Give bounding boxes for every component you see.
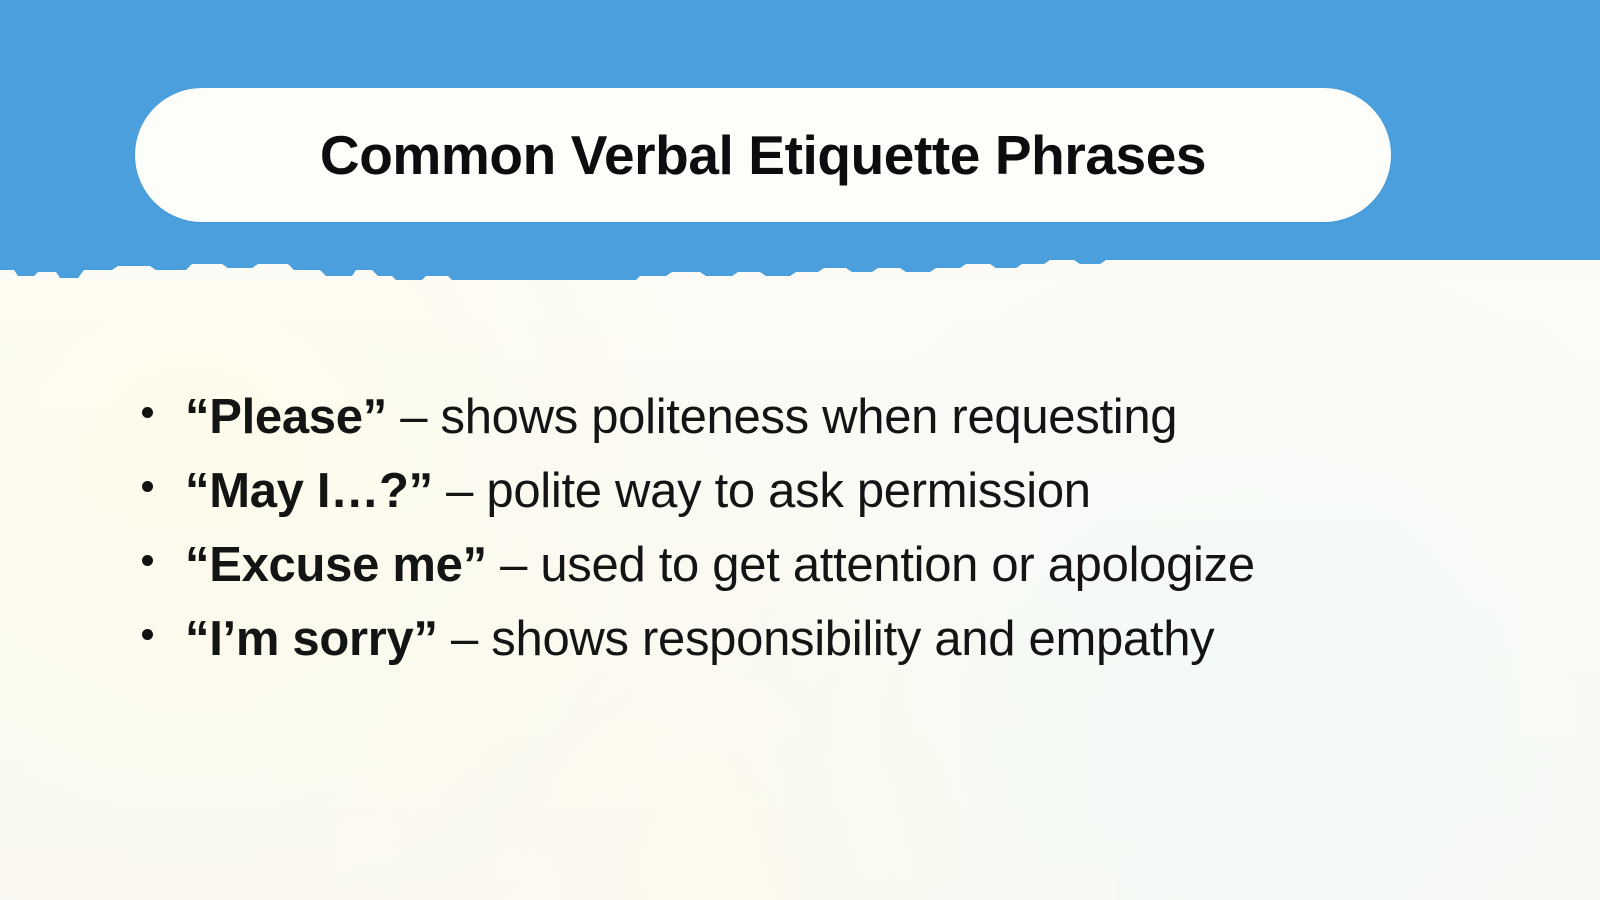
title-pill: Common Verbal Etiquette Phrases <box>135 88 1391 222</box>
open-quote: “ <box>185 538 209 592</box>
bullet-dot-icon <box>142 407 153 418</box>
list-item: “Please” – shows politeness when request… <box>128 380 1458 454</box>
phrase-description: polite way to ask permission <box>486 464 1090 518</box>
phrase-label: Please <box>209 390 363 444</box>
list-item-text: “May I…?” – polite way to ask permission <box>185 454 1458 528</box>
dash-separator: – <box>438 612 492 666</box>
list-item-text: “I’m sorry” – shows responsibility and e… <box>185 602 1458 676</box>
phrase-description: used to get attention or apologize <box>540 538 1254 592</box>
list-item-text: “Please” – shows politeness when request… <box>185 380 1458 454</box>
list-item: “May I…?” – polite way to ask permission <box>128 454 1458 528</box>
close-quote: ” <box>409 464 433 518</box>
list-item: “I’m sorry” – shows responsibility and e… <box>128 602 1458 676</box>
close-quote: ” <box>463 538 487 592</box>
dash-separator: – <box>387 390 441 444</box>
phrase-label: Excuse me <box>209 538 462 592</box>
phrase-description: shows responsibility and empathy <box>491 612 1214 666</box>
phrase-quoted: “I’m sorry” <box>185 612 438 666</box>
phrase-quoted: “Please” <box>185 390 387 444</box>
phrase-list: “Please” – shows politeness when request… <box>128 380 1458 676</box>
close-quote: ” <box>414 612 438 666</box>
open-quote: “ <box>185 464 209 518</box>
dash-separator: – <box>487 538 541 592</box>
bullet-dot-icon <box>142 481 153 492</box>
close-quote: ” <box>363 390 387 444</box>
phrase-description: shows politeness when requesting <box>441 390 1178 444</box>
page-title: Common Verbal Etiquette Phrases <box>320 123 1206 187</box>
list-item-text: “Excuse me” – used to get attention or a… <box>185 528 1458 602</box>
open-quote: “ <box>185 390 209 444</box>
list-item: “Excuse me” – used to get attention or a… <box>128 528 1458 602</box>
slide-canvas: Common Verbal Etiquette Phrases “Please”… <box>0 0 1600 900</box>
dash-separator: – <box>433 464 487 518</box>
phrase-label: I’m sorry <box>209 612 413 666</box>
phrase-quoted: “May I…?” <box>185 464 433 518</box>
bullet-dot-icon <box>142 555 153 566</box>
phrase-quoted: “Excuse me” <box>185 538 487 592</box>
open-quote: “ <box>185 612 209 666</box>
phrase-label: May I…? <box>209 464 408 518</box>
bullet-dot-icon <box>142 629 153 640</box>
